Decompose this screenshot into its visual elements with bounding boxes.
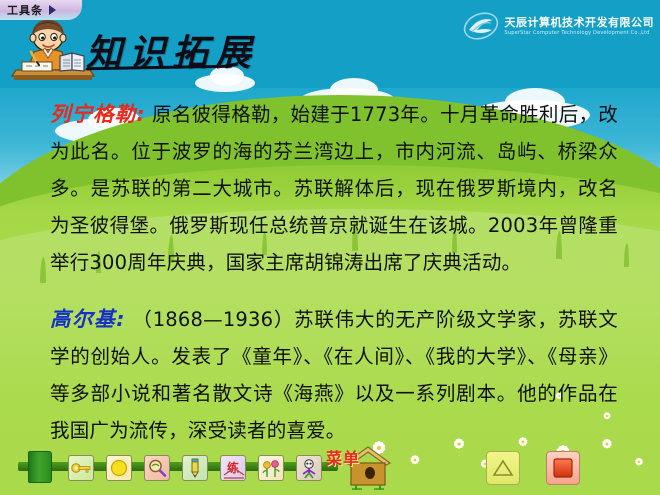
pencil-button[interactable]: [182, 455, 208, 481]
menu-label[interactable]: 菜单: [326, 445, 360, 469]
practice-house-icon: [221, 456, 246, 481]
triangle-play-icon: [492, 458, 514, 478]
play-arrow-icon[interactable]: [49, 5, 56, 15]
sun-button[interactable]: [106, 455, 132, 481]
company-logo: 天辰计算机技术开发有限公司 SuperStar Computer Technol…: [463, 12, 655, 40]
paragraph-body-gorky: （1868—1936）苏联伟大的无产阶级文学家，苏联文学的创始人。发表了《童年》…: [50, 308, 618, 442]
toolbar-tab-label: 工具条: [7, 2, 43, 18]
logo-company-name-cn: 天辰计算机技术开发有限公司: [505, 16, 655, 29]
toolbar-rail: [18, 462, 338, 471]
play-button[interactable]: [486, 451, 520, 485]
key-icon: [71, 461, 91, 475]
square-stop-icon: [552, 457, 574, 479]
bottom-toolbar: 练: [0, 440, 660, 495]
pencil-icon: [188, 457, 202, 479]
sun-icon: [109, 458, 129, 478]
character-button[interactable]: [296, 455, 322, 481]
paragraph-body-leningrad: 原名彼得格勒，始建于1773年。十月革命胜利后，改为此名。位于波罗的海的芬兰湾边…: [50, 103, 618, 274]
slide-root: 工具条 天辰计算机技术开发有限公司 SuperStar Computer Tec…: [0, 0, 660, 495]
key-button[interactable]: [68, 455, 94, 481]
paragraph-lead-gorky: 高尔基:: [50, 307, 125, 331]
paragraph-lead-leningrad: 列宁格勒:: [50, 102, 146, 126]
flowers-button[interactable]: [258, 455, 284, 481]
swoosh-logo-icon: [463, 12, 499, 40]
content-area: 列宁格勒: 原名彼得格勒，始建于1773年。十月革命胜利后，改为此名。位于波罗的…: [0, 96, 660, 469]
toolbar-tab[interactable]: 工具条: [0, 0, 82, 20]
boy-reading-at-desk-icon: [10, 14, 98, 86]
stop-button[interactable]: [546, 451, 580, 485]
logo-company-name-en: SuperStar Computer Technology Developmen…: [505, 29, 655, 37]
magnifying-glass-icon: [147, 458, 167, 478]
practice-button[interactable]: 练: [220, 455, 246, 481]
cartoon-character-icon: [298, 457, 320, 479]
paragraph-gorky: 高尔基: （1868—1936）苏联伟大的无产阶级文学家，苏联文学的创始人。发表…: [0, 301, 660, 449]
paragraph-leningrad: 列宁格勒: 原名彼得格勒，始建于1773年。十月革命胜利后，改为此名。位于波罗的…: [0, 96, 660, 281]
magnifier-button[interactable]: [144, 455, 170, 481]
flowers-icon: [260, 457, 282, 479]
green-slab-button[interactable]: [28, 451, 52, 483]
